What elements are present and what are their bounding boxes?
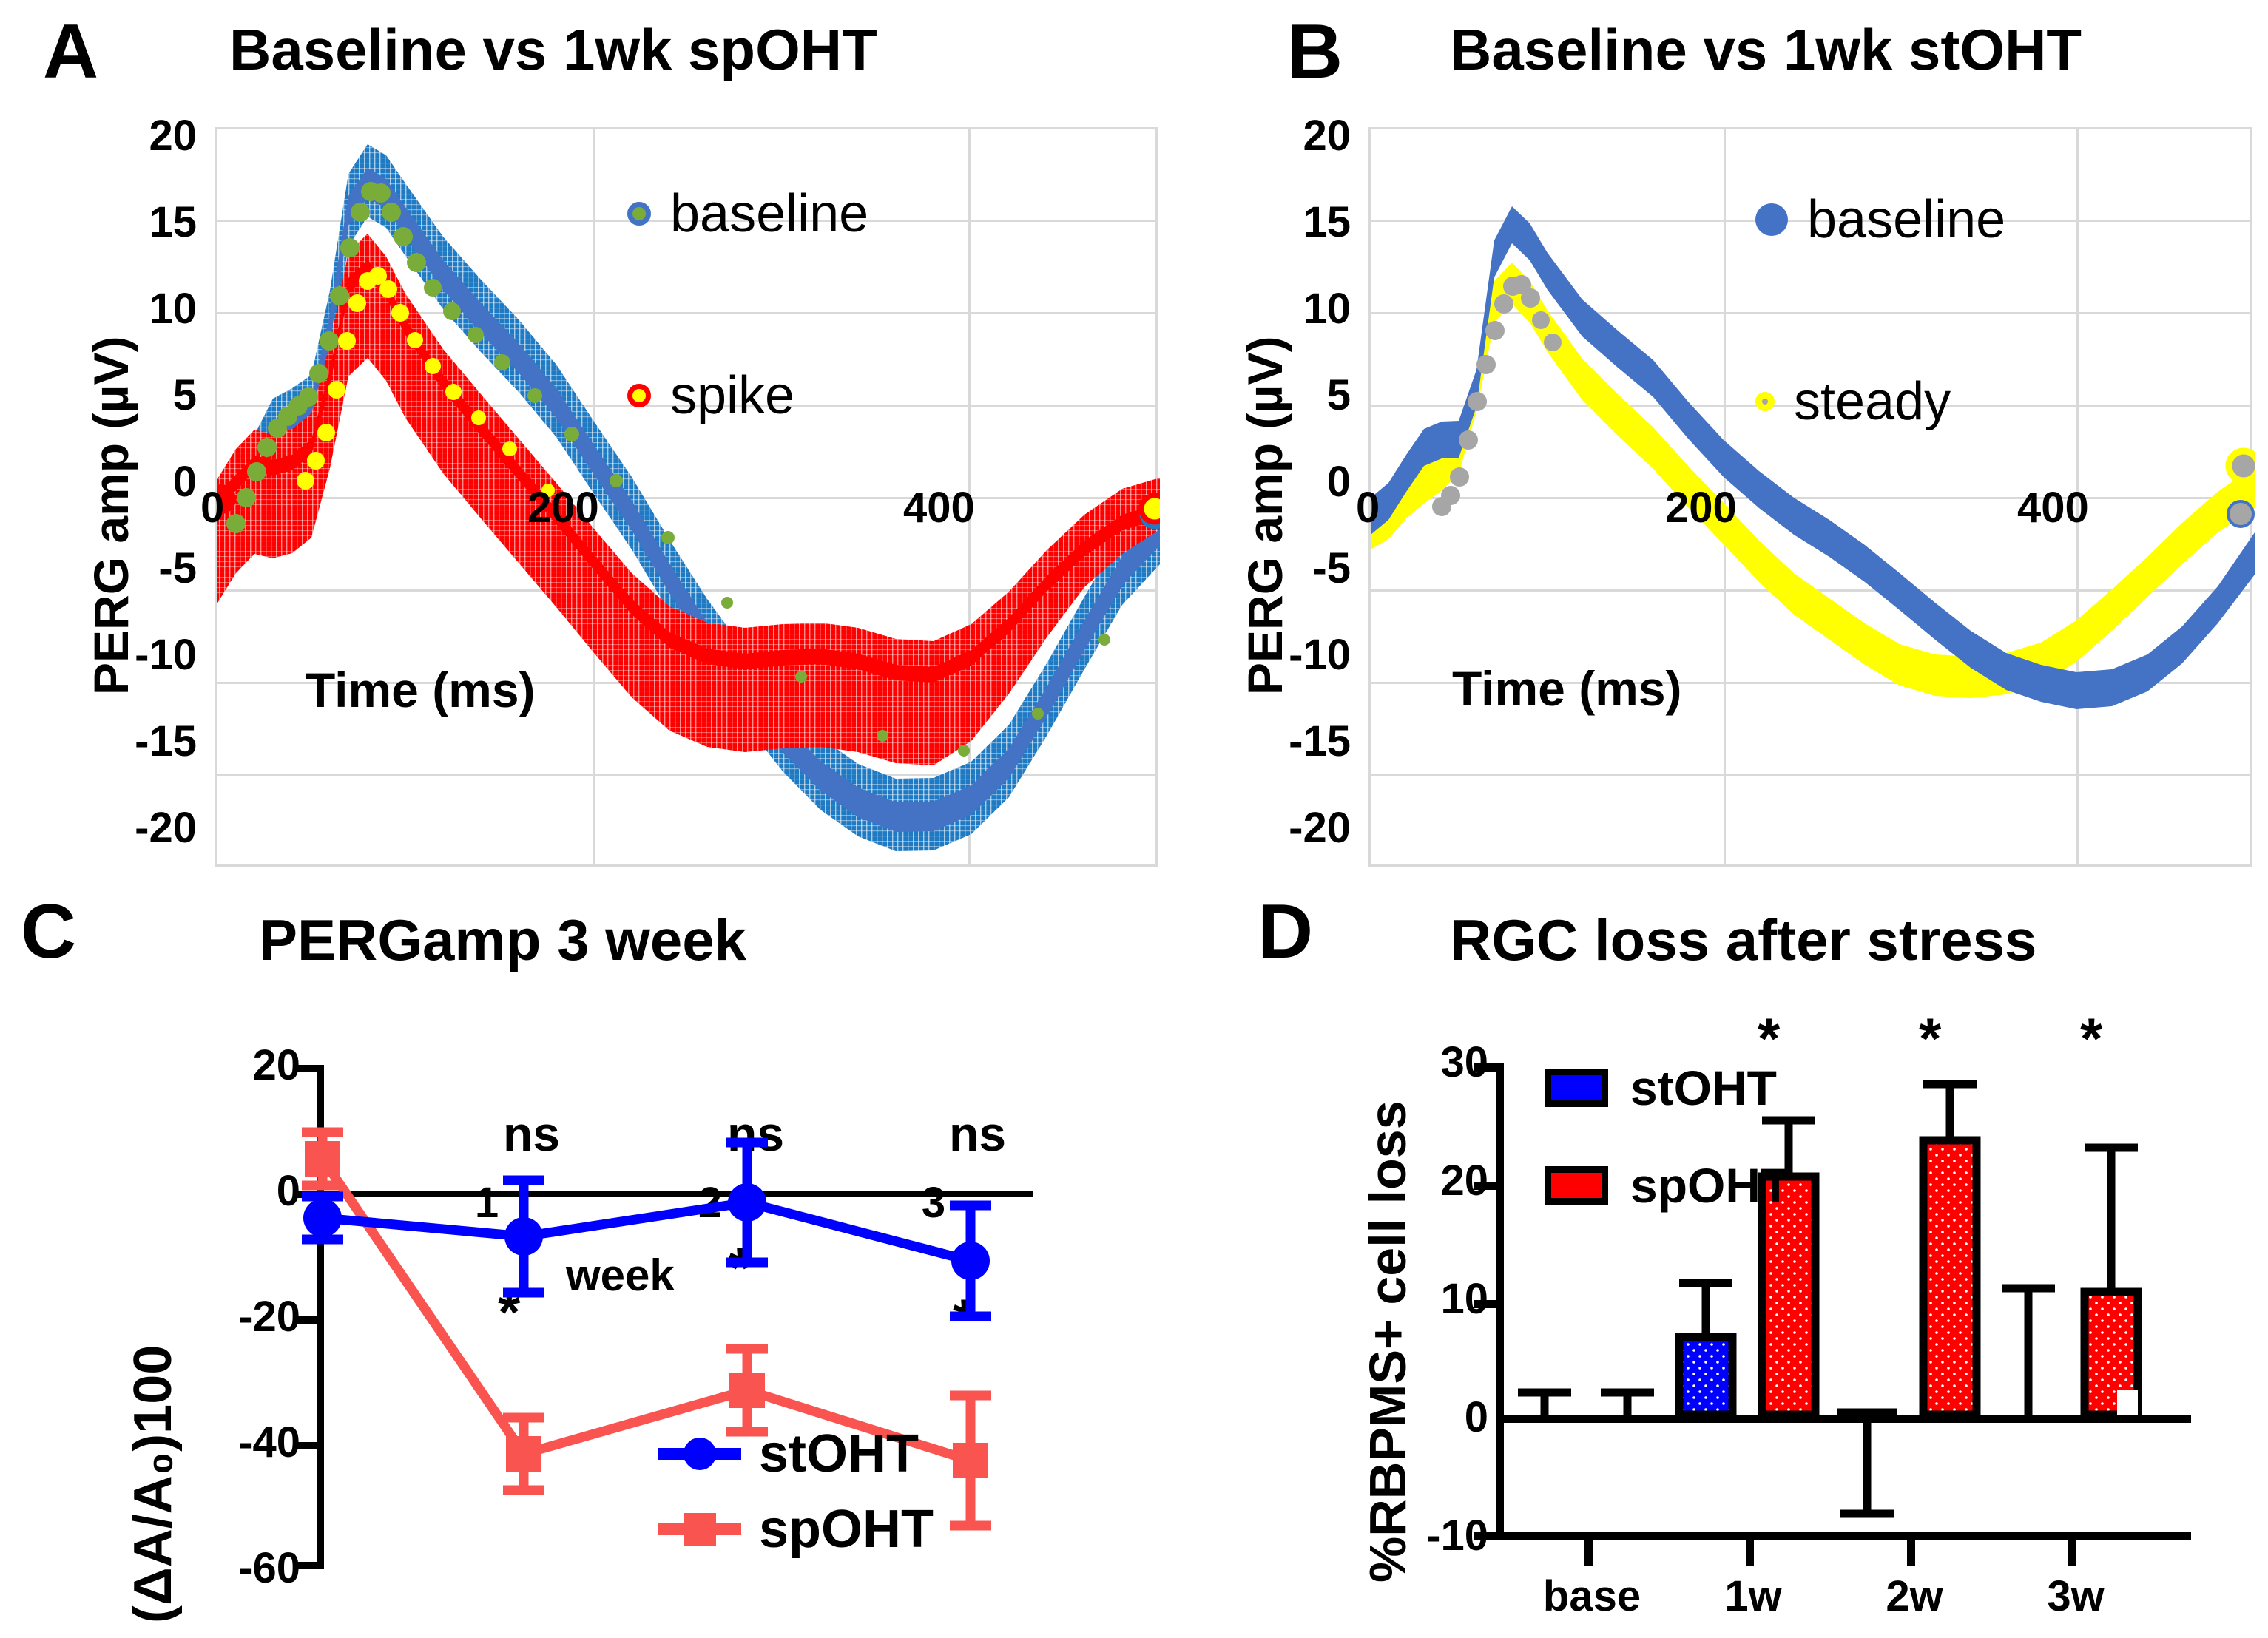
spoht-swatch-icon xyxy=(1545,1166,1608,1205)
legend-item-stoht: stOHT xyxy=(658,1427,934,1480)
panel-d-bar-3w-spoht xyxy=(2085,1148,2138,1415)
baseline-marker-icon xyxy=(627,202,651,226)
panel-d-bar-1w-stoht xyxy=(1679,1283,1732,1415)
panel-a-xtick-2: 400 xyxy=(903,483,975,532)
panel-b: B Baseline vs 1wk stOHT PERG amp (µV) 20… xyxy=(1161,0,2268,880)
panel-c-spoht-line xyxy=(323,1159,971,1461)
panel-d-bar-2w-spoht xyxy=(1923,1084,1977,1415)
panel-b-title: Baseline vs 1wk stOHT xyxy=(1450,21,2082,78)
panel-b-ytick-4: 0 xyxy=(1247,461,1351,504)
panel-d-legend: stOHT spOHT xyxy=(1545,1063,1790,1228)
panel-b-letter: B xyxy=(1287,13,1342,90)
panel-b-ytick-6: -10 xyxy=(1225,634,1351,677)
panel-a-xtick-1: 200 xyxy=(527,483,599,532)
legend-label: steady xyxy=(1794,375,1951,428)
panel-a-end-marker-yellow xyxy=(1141,495,1160,522)
panel-a-letter: A xyxy=(43,13,98,90)
panel-b-ytick-1: 15 xyxy=(1247,201,1351,244)
panel-a: A Baseline vs 1wk spOHT PERG amp (µV) 20… xyxy=(0,0,1161,880)
panel-a-ytick-5: -5 xyxy=(78,547,197,590)
panel-a-title: Baseline vs 1wk spOHT xyxy=(229,21,877,78)
panel-d-bar-base-spoht xyxy=(1601,1392,1654,1415)
panel-c-stoht-line xyxy=(323,1202,971,1261)
panel-a-legend: baseline spike xyxy=(627,187,868,427)
panel-b-xtick-2: 400 xyxy=(2017,483,2089,532)
steady-marker-icon xyxy=(1755,392,1775,411)
legend-label: stOHT xyxy=(759,1427,919,1480)
panel-c-stoht-markers xyxy=(303,1183,990,1280)
panel-b-end-marker-steady xyxy=(2229,451,2255,481)
legend-item-steady: steady xyxy=(1755,375,2005,428)
legend-item-spoht: spOHT xyxy=(658,1503,934,1556)
panel-c: C PERGamp 3 week (ΔA/A₀)100 20 0 -20 -40… xyxy=(0,880,1235,1638)
panel-a-ytick-7: -15 xyxy=(71,720,197,763)
panel-b-end-marker-baseline xyxy=(2228,501,2253,527)
panel-b-xtick-0: 0 xyxy=(1356,483,1380,532)
panel-a-ytick-1: 15 xyxy=(93,201,197,244)
panel-b-xlabel: Time (ms) xyxy=(1452,660,1682,717)
panel-b-ytick-0: 20 xyxy=(1247,115,1351,158)
panel-d-bar-2w-stoht xyxy=(1840,1412,1894,1514)
panel-b-xtick-1: 200 xyxy=(1665,483,1737,532)
panel-a-xlabel: Time (ms) xyxy=(306,662,536,718)
panel-a-ytick-3: 5 xyxy=(93,374,197,417)
panel-c-plot-area: 20 0 -20 -40 -60 ns ns ns 1 2 3 week xyxy=(0,880,1235,1638)
legend-item-baseline: baseline xyxy=(1755,193,2005,246)
panel-d: D RGC loss after stress %RBPMS+ cell los… xyxy=(1235,880,2268,1638)
panel-b-ytick-8: -20 xyxy=(1225,807,1351,850)
stoht-swatch-icon xyxy=(1545,1069,1608,1107)
legend-item-spoht: spOHT xyxy=(1545,1161,1790,1210)
panel-a-ytick-2: 10 xyxy=(93,288,197,331)
panel-c-series xyxy=(0,880,1235,1638)
legend-label: baseline xyxy=(1807,193,2005,246)
legend-item-stoht: stOHT xyxy=(1545,1063,1790,1112)
legend-item-baseline: baseline xyxy=(627,187,868,240)
panel-b-plot-area: baseline steady 0 200 400 Time (ms) xyxy=(1368,127,2252,867)
panel-b-ytick-7: -15 xyxy=(1225,720,1351,763)
panel-b-legend: baseline steady xyxy=(1755,193,2005,433)
panel-b-ytick-5: -5 xyxy=(1232,547,1351,590)
legend-item-spike: spike xyxy=(627,369,868,422)
panel-a-plot-area: baseline spike 0 200 400 Time (ms) xyxy=(215,127,1158,867)
panel-b-ytick-3: 5 xyxy=(1247,374,1351,417)
legend-label: spOHT xyxy=(1630,1161,1790,1210)
panel-c-legend: stOHT spOHT xyxy=(658,1427,934,1578)
panel-a-ytick-6: -10 xyxy=(71,634,197,677)
panel-d-bar-base-stoht xyxy=(1518,1392,1571,1415)
panel-a-ytick-0: 20 xyxy=(93,115,197,158)
legend-label: baseline xyxy=(670,187,868,240)
panel-b-ytick-2: 10 xyxy=(1247,288,1351,331)
legend-label: spike xyxy=(670,369,794,422)
panel-d-bar-3w-stoht xyxy=(2002,1288,2055,1415)
baseline-marker-icon xyxy=(1755,203,1788,236)
panel-a-xtick-0: 0 xyxy=(200,483,224,532)
panel-a-ytick-8: -20 xyxy=(71,807,197,850)
stoht-marker-icon xyxy=(658,1437,741,1471)
figure-root: A Baseline vs 1wk spOHT PERG amp (µV) 20… xyxy=(0,0,2268,1638)
panel-d-plot-area: 30 20 10 0 -10 base 1w 2w 3w xyxy=(1235,880,2268,1638)
legend-label: stOHT xyxy=(1630,1063,1777,1112)
legend-label: spOHT xyxy=(759,1503,934,1556)
spoht-marker-icon xyxy=(658,1512,741,1546)
spike-marker-icon xyxy=(627,384,651,407)
panel-d-bars xyxy=(1235,880,2268,1638)
panel-a-ytick-4: 0 xyxy=(93,461,197,504)
